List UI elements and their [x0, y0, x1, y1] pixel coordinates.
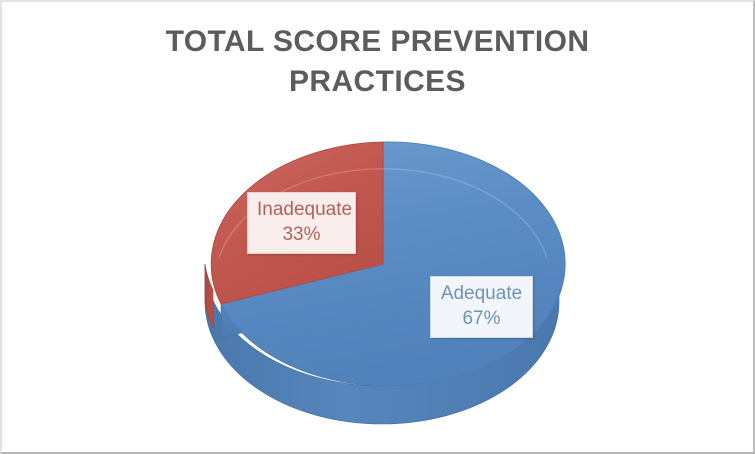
- pie-label-inadequate: Inadequate 33%: [247, 192, 356, 254]
- chart-screenshot: TOTAL SCORE PREVENTION PRACTICES: [0, 0, 755, 454]
- pie-label-adequate-name: Adequate: [440, 281, 523, 306]
- chart-title: TOTAL SCORE PREVENTION PRACTICES: [2, 22, 753, 101]
- pie-label-inadequate-value: 33%: [257, 222, 346, 247]
- pie-label-adequate-value: 67%: [440, 306, 523, 331]
- pie-label-inadequate-name: Inadequate: [257, 197, 346, 222]
- chart-plot-area: TOTAL SCORE PREVENTION PRACTICES: [2, 2, 753, 452]
- pie-label-adequate: Adequate 67%: [430, 276, 533, 338]
